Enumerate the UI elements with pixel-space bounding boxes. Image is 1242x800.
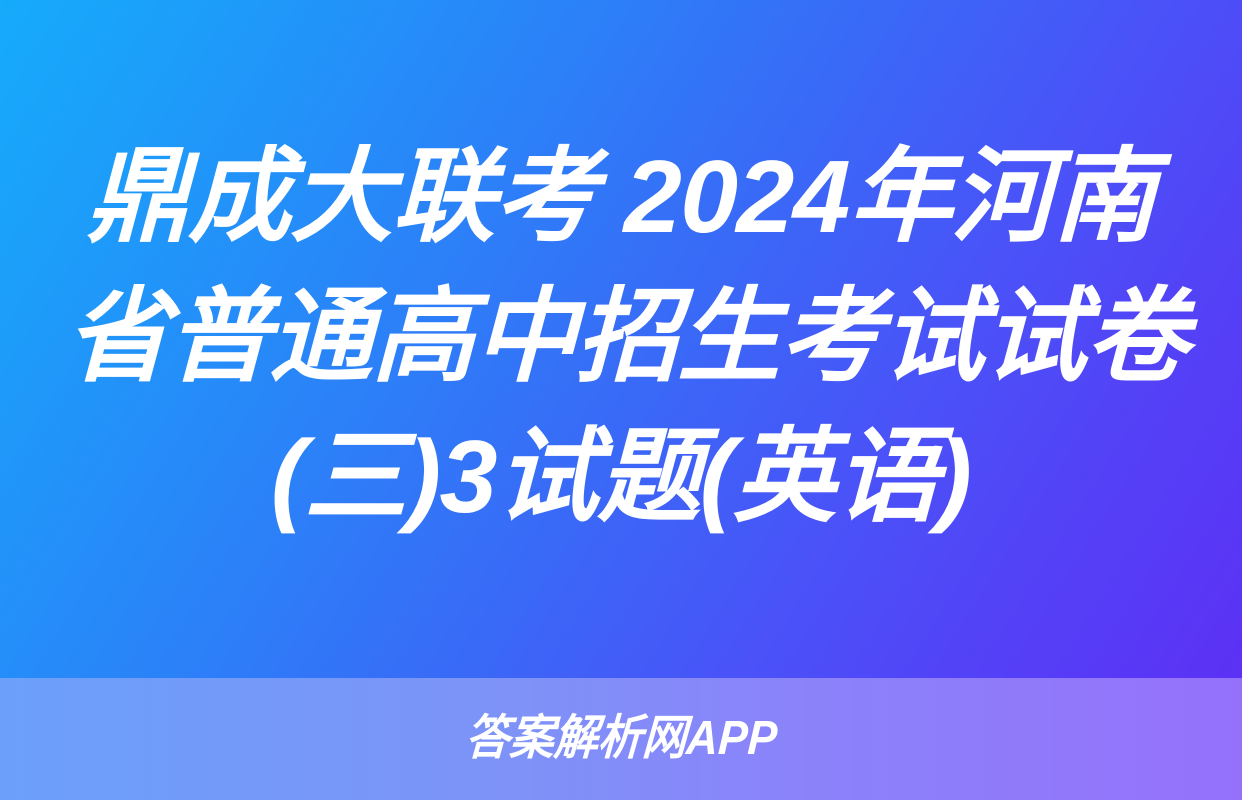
title-line-1: 鼎成大联考 2024年河南	[65, 127, 1177, 267]
hero-gradient-background: 鼎成大联考 2024年河南 省普通高中招生考试试卷 (三)3试题(英语)	[0, 0, 1242, 678]
app-brand-label: 答案解析网APP	[464, 713, 778, 765]
poster-banner: 鼎成大联考 2024年河南 省普通高中招生考试试卷 (三)3试题(英语) 答案解…	[0, 0, 1242, 800]
title-line-3: (三)3试题(英语)	[65, 407, 1177, 547]
page-title: 鼎成大联考 2024年河南 省普通高中招生考试试卷 (三)3试题(英语)	[66, 127, 1176, 551]
title-line-2: 省普通高中招生考试试卷	[65, 267, 1177, 407]
footer-band: 答案解析网APP	[0, 678, 1242, 800]
